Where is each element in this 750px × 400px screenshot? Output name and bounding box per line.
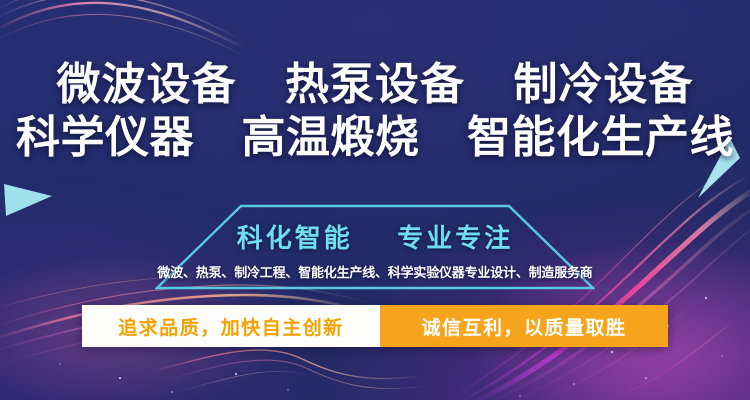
headline-term-5: 高温煅烧 bbox=[242, 115, 420, 162]
slogan-right[interactable]: 诚信互利，以质量取胜 bbox=[380, 305, 668, 347]
triangle-right-icon-left bbox=[4, 176, 54, 218]
slogan-left[interactable]: 追求品质，加快自主创新 bbox=[82, 305, 380, 347]
headline-term-1: 微波设备 bbox=[57, 62, 237, 109]
headline: 微波设备 热泵设备 制冷设备 科学仪器 高温煅烧 智能化生产线 bbox=[0, 62, 750, 161]
badge-subtitle: 微波、热泵、制冷工程、智能化生产线、科学实验仪器专业设计、制造服务商 bbox=[0, 262, 750, 281]
badge-tagline-right: 专业专注 bbox=[397, 223, 513, 253]
headline-term-3: 制冷设备 bbox=[513, 62, 693, 109]
headline-term-6: 智能化生产线 bbox=[467, 115, 734, 162]
headline-term-4: 科学仪器 bbox=[16, 115, 194, 162]
badge-tagline: 科化智能 专业专注 bbox=[0, 218, 750, 255]
headline-line-2: 科学仪器 高温煅烧 智能化生产线 bbox=[0, 115, 750, 162]
headline-line-1: 微波设备 热泵设备 制冷设备 bbox=[0, 62, 750, 109]
slogan-bar: 追求品质，加快自主创新 诚信互利，以质量取胜 bbox=[82, 305, 668, 347]
badge-tagline-left: 科化智能 bbox=[237, 223, 353, 253]
promo-banner: 微波设备 热泵设备 制冷设备 科学仪器 高温煅烧 智能化生产线 科化智能 专业专… bbox=[0, 0, 750, 400]
headline-term-2: 热泵设备 bbox=[285, 62, 465, 109]
